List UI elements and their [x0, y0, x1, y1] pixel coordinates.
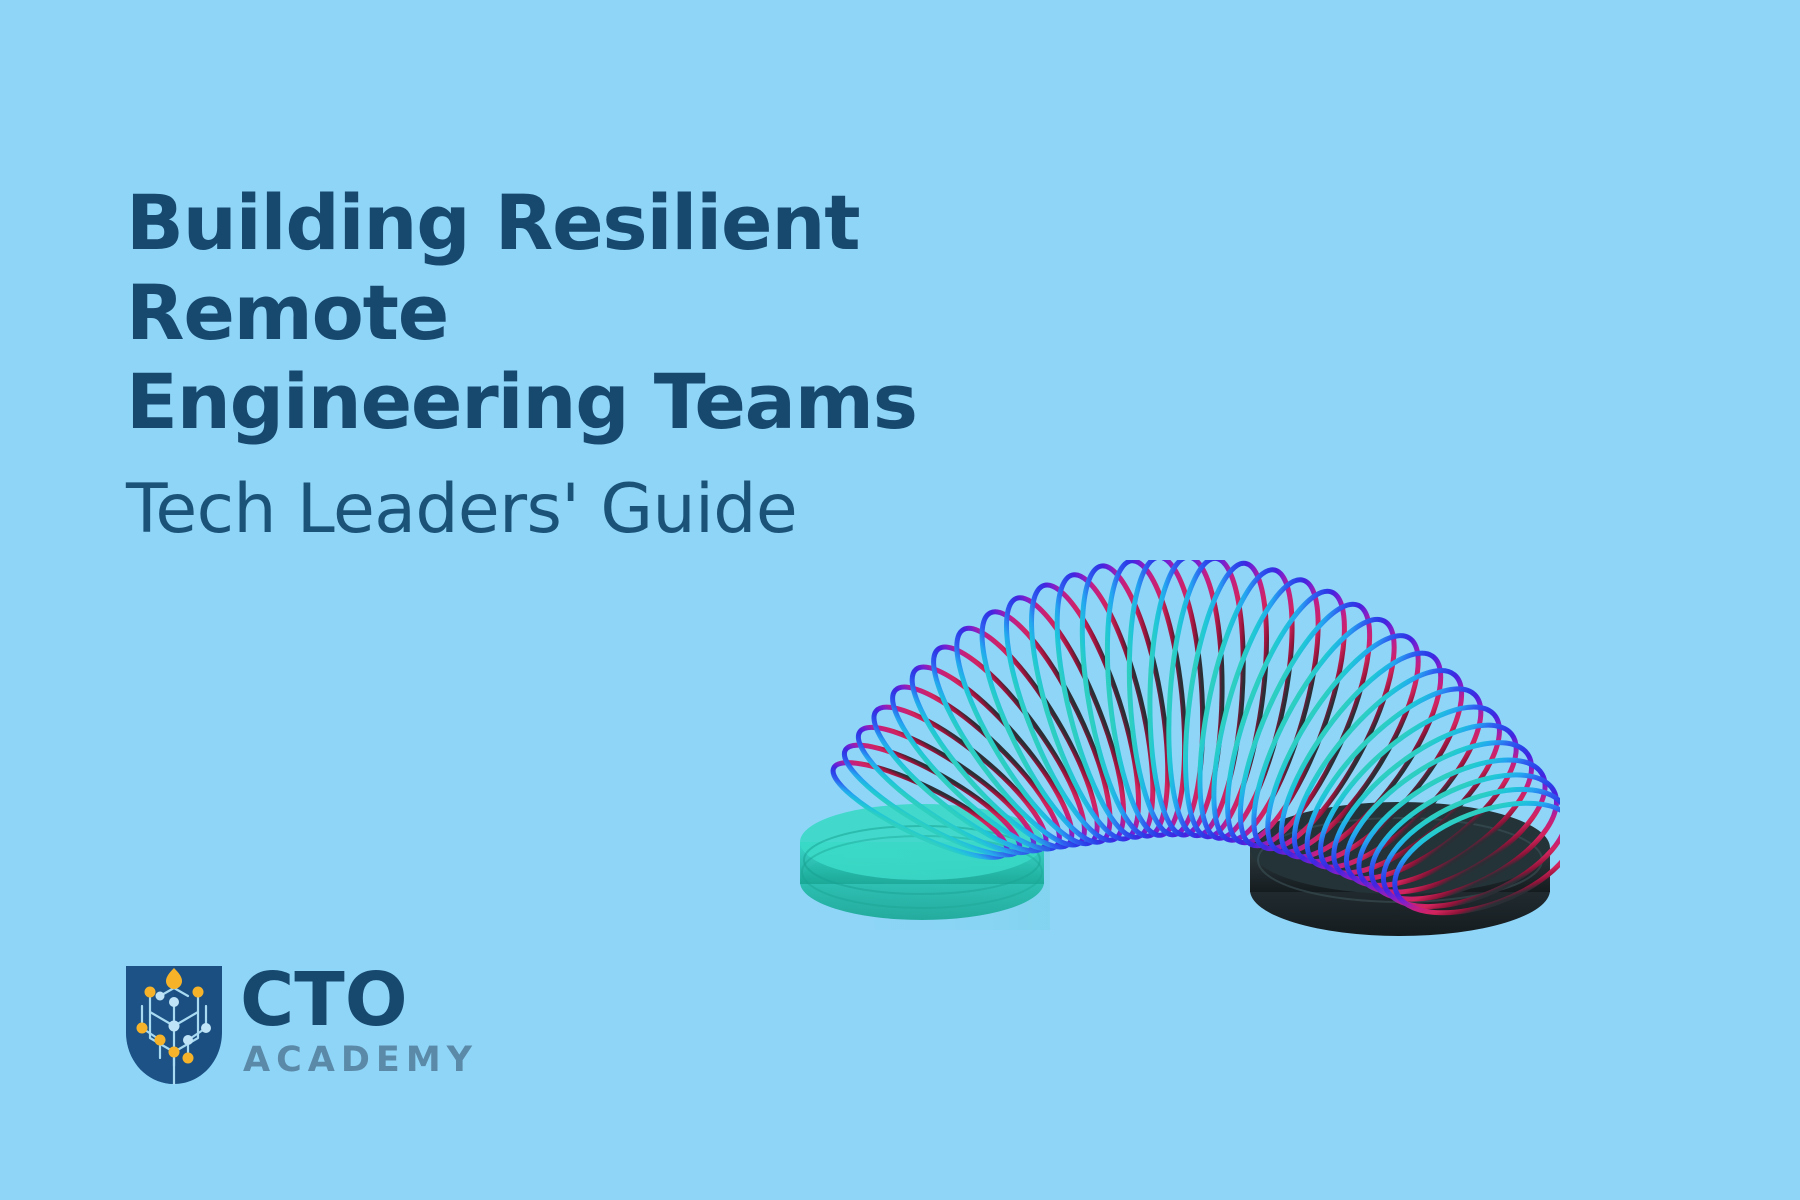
page-title: Building Resilient Remote Engineering Te… — [126, 178, 1186, 447]
shield-circuit-icon — [122, 962, 226, 1088]
logo-wordmark: CTO ACADEMY — [240, 966, 478, 1080]
logo-brand-sub: ACADEMY — [243, 1040, 478, 1080]
logo-brand-name: CTO — [240, 966, 478, 1034]
hero-text-block: Building Resilient Remote Engineering Te… — [126, 178, 1186, 551]
poster-canvas: Building Resilient Remote Engineering Te… — [0, 0, 1800, 1200]
cto-academy-logo[interactable]: CTO ACADEMY — [122, 962, 478, 1088]
page-subtitle: Tech Leaders' Guide — [126, 469, 1186, 551]
rainbow-slinky-illustration — [800, 560, 1560, 1040]
